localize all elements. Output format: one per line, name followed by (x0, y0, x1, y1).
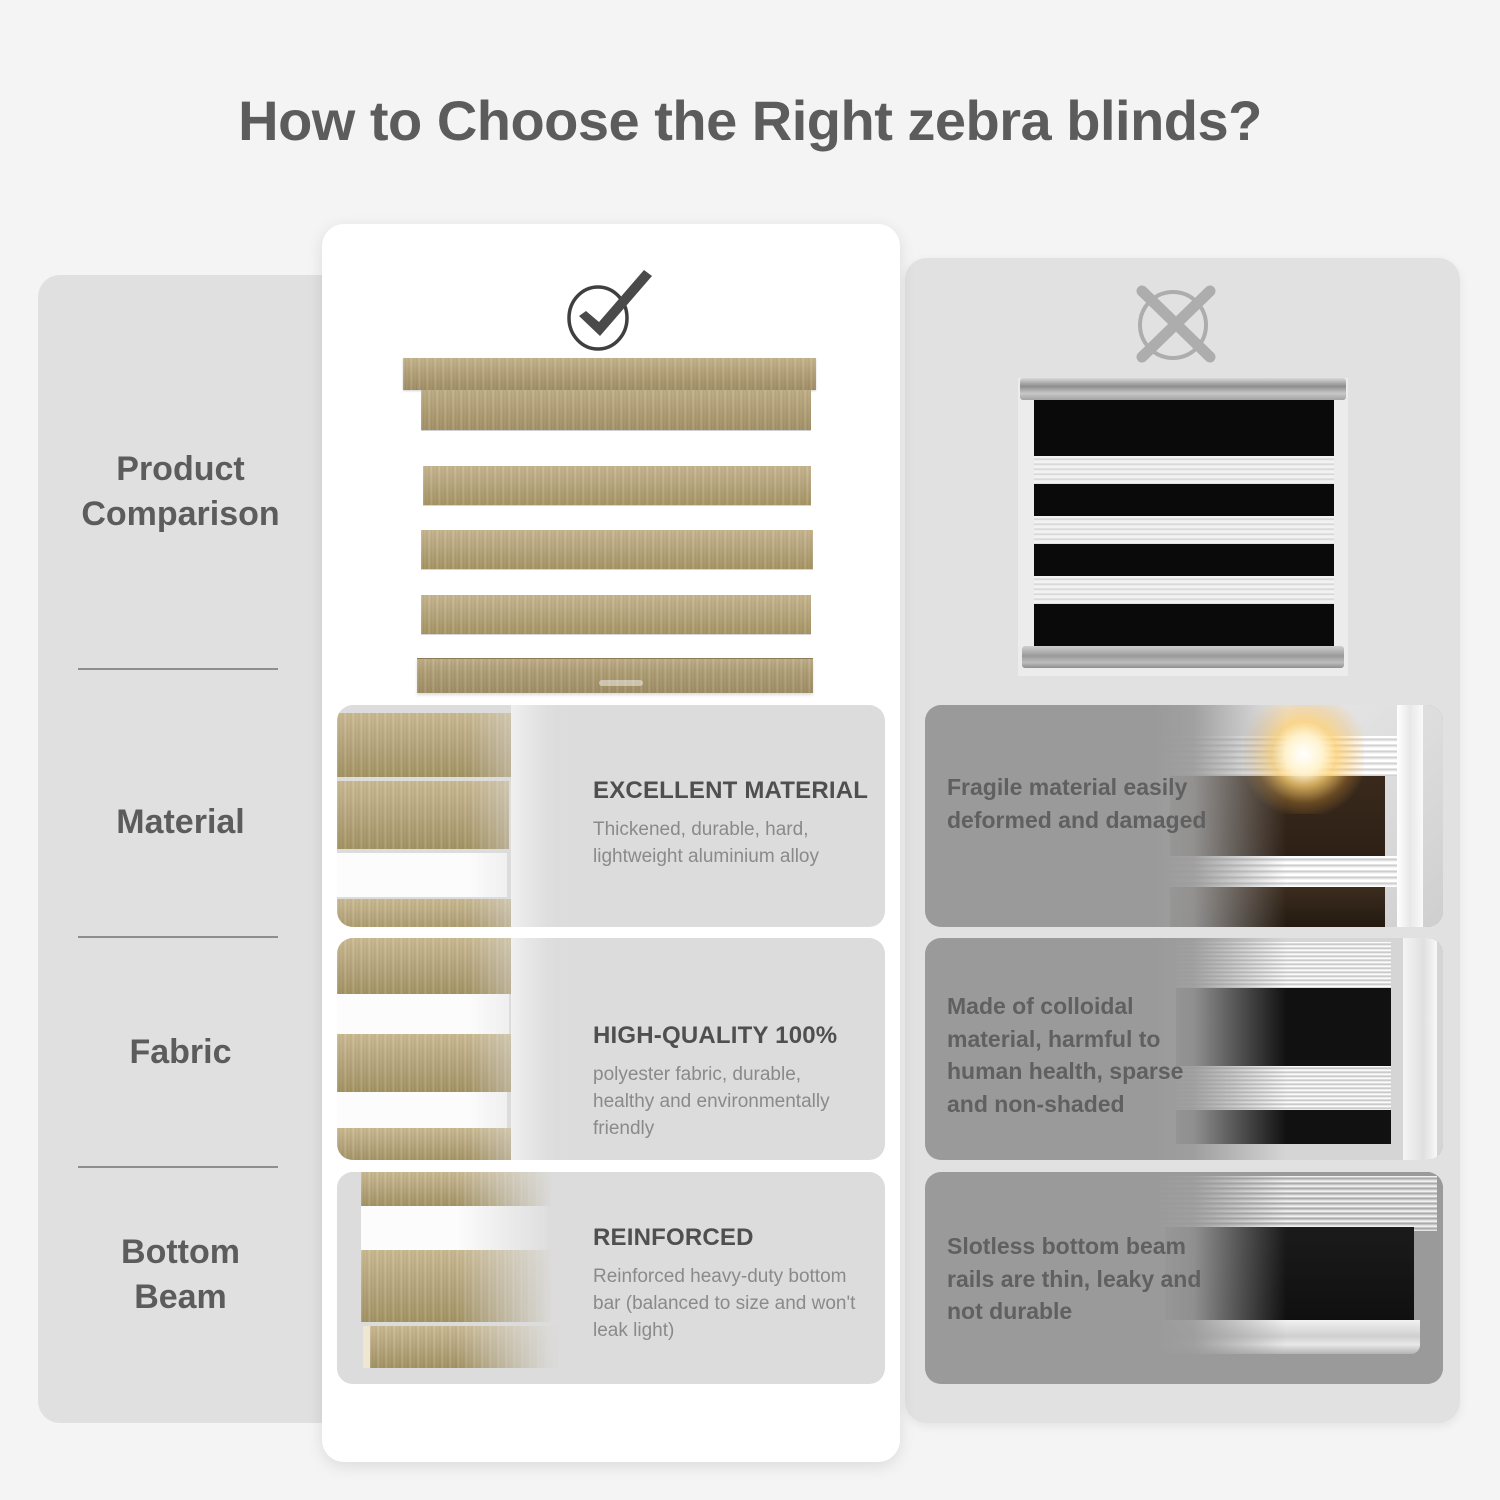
row-divider (78, 936, 278, 938)
row-label-bottom-beam: Bottom Beam (38, 1230, 323, 1320)
good-bottom-beam-heading: REINFORCED (593, 1224, 754, 1252)
good-feature-card-material: EXCELLENT MATERIAL Thickened, durable, h… (337, 705, 885, 927)
good-material-photo (337, 705, 587, 927)
row-label-column: Product Comparison Material Fabric Botto… (38, 275, 323, 1423)
good-material-body: Thickened, durable, hard, lightweight al… (593, 817, 861, 871)
bad-feature-card-bottom-beam: Slotless bottom beam rails are thin, lea… (925, 1172, 1443, 1384)
row-label-line2: Comparison (38, 492, 323, 537)
good-fabric-photo (337, 938, 587, 1160)
bad-bottom-beam-body: Slotless bottom beam rails are thin, lea… (947, 1230, 1217, 1328)
good-material-text: EXCELLENT MATERIAL Thickened, durable, h… (593, 705, 875, 927)
bad-feature-card-fabric: Made of colloidal material, harmful to h… (925, 938, 1443, 1160)
good-fabric-text: HIGH-QUALITY 100% polyester fabric, dura… (593, 938, 875, 1160)
row-label-fabric: Fabric (38, 1030, 323, 1075)
good-bottom-beam-text: REINFORCED Reinforced heavy-duty bottom … (593, 1172, 875, 1384)
good-bottom-beam-body: Reinforced heavy-duty bottom bar (balanc… (593, 1264, 861, 1345)
bad-material-body: Fragile material easily deformed and dam… (947, 771, 1217, 836)
x-circle-icon (1118, 281, 1228, 365)
good-hero-product-image (403, 358, 816, 696)
check-circle-icon (548, 268, 664, 354)
blind-headrail (1020, 378, 1346, 400)
good-fabric-heading: HIGH-QUALITY 100% (593, 1022, 837, 1050)
row-divider (78, 1166, 278, 1168)
row-divider (78, 668, 278, 670)
good-feature-card-fabric: HIGH-QUALITY 100% polyester fabric, dura… (337, 938, 885, 1160)
row-label-material: Material (38, 800, 323, 845)
blind-bottom-bar (1022, 646, 1344, 668)
page-title: How to Choose the Right zebra blinds? (0, 88, 1500, 153)
row-label-line2: Beam (38, 1275, 323, 1320)
window-frame (511, 938, 587, 1160)
good-fabric-body: polyester fabric, durable, healthy and e… (593, 1062, 861, 1143)
row-label-line1: Product (38, 447, 323, 492)
blind-top-slat (421, 390, 811, 431)
blind-slat (421, 530, 813, 570)
window-frame (511, 705, 587, 927)
blind-slat (423, 466, 811, 506)
blind-slat (421, 595, 811, 635)
blind-headrail (403, 358, 816, 390)
good-feature-card-bottom-beam: REINFORCED Reinforced heavy-duty bottom … (337, 1172, 885, 1384)
good-bottom-beam-photo (337, 1172, 567, 1384)
blind-bottom-bar (417, 658, 813, 693)
good-material-heading: EXCELLENT MATERIAL (593, 777, 868, 805)
bad-feature-card-material: Fragile material easily deformed and dam… (925, 705, 1443, 927)
blind-fabric (1034, 400, 1334, 646)
bad-fabric-body: Made of colloidal material, harmful to h… (947, 990, 1217, 1121)
bad-hero-product-image (1018, 378, 1348, 676)
row-label-line1: Bottom (38, 1230, 323, 1275)
row-label-product-comparison: Product Comparison (38, 447, 323, 537)
